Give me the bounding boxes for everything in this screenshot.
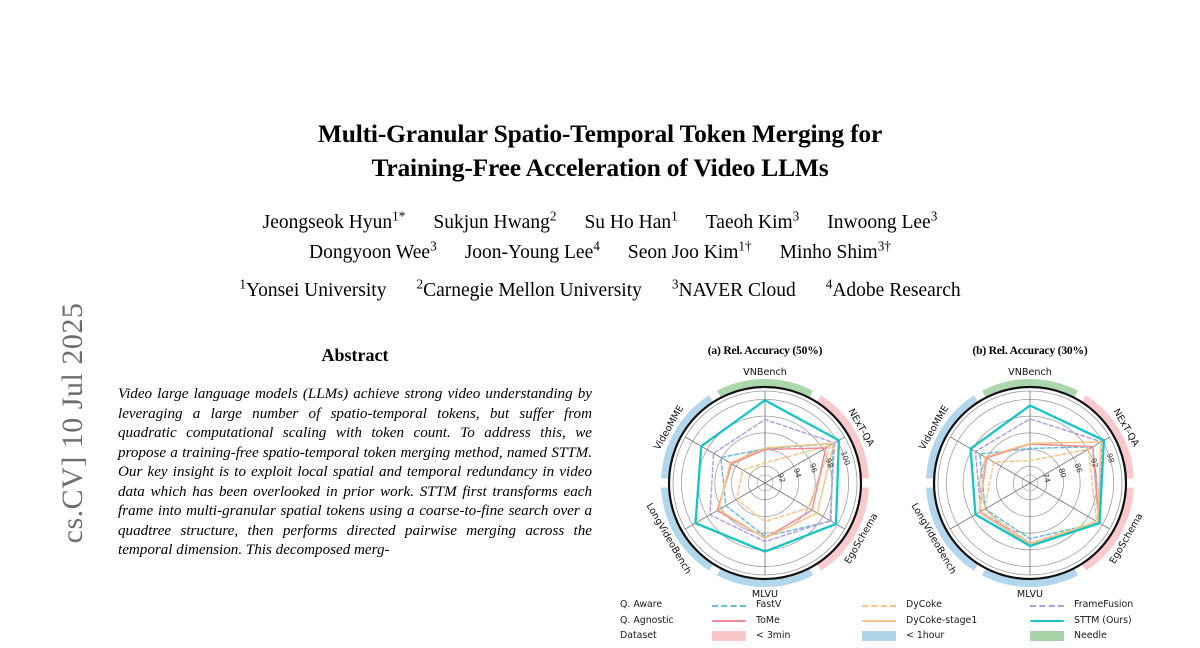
abstract-heading: Abstract bbox=[120, 345, 590, 366]
legend-swatch-icon bbox=[1030, 631, 1064, 641]
legend-item-label: Needle bbox=[1074, 630, 1107, 641]
author-affiliation-marker: 3 bbox=[931, 209, 938, 224]
teaser-figure: (a) Rel. Accuracy (50%) (b) Rel. Accurac… bbox=[612, 340, 1200, 648]
legend-row-q-aware: Q. AwareFastVDyCokeFrameFusion bbox=[612, 598, 1200, 613]
legend-row-dataset: Dataset< 3min< 1hourNeedle bbox=[612, 629, 1200, 644]
author-name: Inwoong Lee3 bbox=[827, 208, 937, 238]
legend-category-label: Dataset bbox=[620, 630, 712, 641]
author-name: Taeoh Kim3 bbox=[706, 208, 800, 238]
radar-svg: 92949698100NExT-QAEgoSchemaMLVULongVideo… bbox=[630, 356, 900, 606]
author-name: Su Ho Han1 bbox=[584, 208, 677, 238]
page-title: Multi-Granular Spatio-Temporal Token Mer… bbox=[130, 117, 1070, 185]
author-affiliation-marker: 3 bbox=[430, 239, 437, 254]
legend-item-label: < 3min bbox=[756, 630, 790, 641]
author-name: Minho Shim3† bbox=[780, 238, 891, 268]
affiliation-list: 1Yonsei University2Carnegie Mellon Unive… bbox=[130, 280, 1070, 302]
affiliation: 4Adobe Research bbox=[826, 280, 961, 302]
author-affiliation-marker: 1* bbox=[392, 209, 405, 224]
author-name: Jeongseok Hyun1* bbox=[263, 208, 406, 238]
author-name: Joon-Young Lee4 bbox=[465, 238, 600, 268]
legend-item-label: FrameFusion bbox=[1074, 599, 1133, 610]
radar-axis-label: VNBench bbox=[743, 367, 787, 378]
radar-tick-label: 92 bbox=[776, 472, 788, 484]
author-affiliation-marker: 3 bbox=[793, 209, 800, 224]
title-line-2: Training-Free Acceleration of Video LLMs bbox=[130, 151, 1070, 185]
legend-row-q-agnostic: Q. AgnosticToMeDyCoke-stage1STTM (Ours) bbox=[612, 614, 1200, 629]
radar-series-sttm-ours bbox=[695, 400, 838, 551]
radar-tick-label: 92 bbox=[1089, 457, 1101, 469]
author-row-2: Dongyoon Wee3Joon-Young Lee4Seon Joo Kim… bbox=[130, 238, 1070, 268]
legend-swatch-icon bbox=[712, 620, 746, 622]
legend-swatch-icon bbox=[862, 620, 896, 622]
legend-swatch-icon bbox=[712, 605, 746, 607]
affiliation-marker: 2 bbox=[416, 277, 423, 292]
radar-series-dycoke bbox=[737, 445, 830, 521]
legend-item-label: ToMe bbox=[756, 615, 780, 626]
affiliation-marker: 4 bbox=[826, 277, 833, 292]
affiliation: 2Carnegie Mellon University bbox=[416, 280, 641, 302]
author-name: Seon Joo Kim1† bbox=[628, 238, 752, 268]
affiliation: 3NAVER Cloud bbox=[672, 280, 796, 302]
radar-chart-rel-accuracy-30: 7480869298NExT-QAEgoSchemaMLVULongVideoB… bbox=[895, 356, 1165, 606]
legend-swatch-icon bbox=[712, 631, 746, 641]
radar-tick-label: 80 bbox=[1057, 467, 1069, 479]
author-affiliation-marker: 2 bbox=[550, 209, 557, 224]
legend-swatch-icon bbox=[1030, 605, 1064, 607]
legend-category-label: Q. Agnostic bbox=[620, 615, 712, 626]
affiliation: 1Yonsei University bbox=[239, 280, 386, 302]
radar-tick-label: 86 bbox=[1073, 462, 1085, 474]
author-name: Sukjun Hwang2 bbox=[433, 208, 556, 238]
legend-category-label: Q. Aware bbox=[620, 599, 712, 610]
author-affiliation-marker: 4 bbox=[593, 239, 600, 254]
radar-tick-label: 96 bbox=[808, 462, 820, 474]
arxiv-identifier-stamp: cs.CV] 10 Jul 2025 bbox=[45, 258, 101, 588]
legend-swatch-icon bbox=[862, 631, 896, 641]
affiliation-marker: 3 bbox=[672, 277, 679, 292]
legend-swatch-icon bbox=[1030, 620, 1064, 622]
author-list: Jeongseok Hyun1*Sukjun Hwang2Su Ho Han1T… bbox=[130, 208, 1070, 268]
author-affiliation-marker: 1 bbox=[671, 209, 678, 224]
legend-item-label: STTM (Ours) bbox=[1074, 615, 1132, 626]
legend-item-label: DyCoke-stage1 bbox=[906, 615, 977, 626]
legend-swatch-icon bbox=[862, 605, 896, 607]
radar-series-framefusion bbox=[710, 419, 835, 541]
affiliation-marker: 1 bbox=[239, 277, 246, 292]
radar-chart-rel-accuracy-50: 92949698100NExT-QAEgoSchemaMLVULongVideo… bbox=[630, 356, 900, 606]
radar-axis-label: VNBench bbox=[1008, 367, 1052, 378]
radar-tick-label: 74 bbox=[1041, 472, 1053, 484]
legend-item-label: DyCoke bbox=[906, 599, 942, 610]
radar-tick-label: 100 bbox=[839, 450, 852, 467]
legend-item-label: < 1hour bbox=[906, 630, 944, 641]
radar-tick-label: 94 bbox=[792, 467, 804, 479]
author-affiliation-marker: 3† bbox=[878, 239, 891, 254]
title-line-1: Multi-Granular Spatio-Temporal Token Mer… bbox=[130, 117, 1070, 151]
author-name: Dongyoon Wee3 bbox=[309, 238, 437, 268]
author-row-1: Jeongseok Hyun1*Sukjun Hwang2Su Ho Han1T… bbox=[130, 208, 1070, 238]
radar-tick-label: 98 bbox=[824, 457, 836, 469]
radar-svg: 7480869298NExT-QAEgoSchemaMLVULongVideoB… bbox=[895, 356, 1165, 606]
radar-series-fastv bbox=[980, 447, 1099, 539]
radar-tick-label: 98 bbox=[1105, 452, 1117, 464]
legend-item-label: FastV bbox=[756, 599, 781, 610]
author-affiliation-marker: 1† bbox=[738, 239, 751, 254]
chart-legend: Q. AwareFastVDyCokeFrameFusion Q. Agnost… bbox=[612, 598, 1200, 648]
abstract-body: Video large language models (LLMs) achie… bbox=[118, 385, 592, 561]
